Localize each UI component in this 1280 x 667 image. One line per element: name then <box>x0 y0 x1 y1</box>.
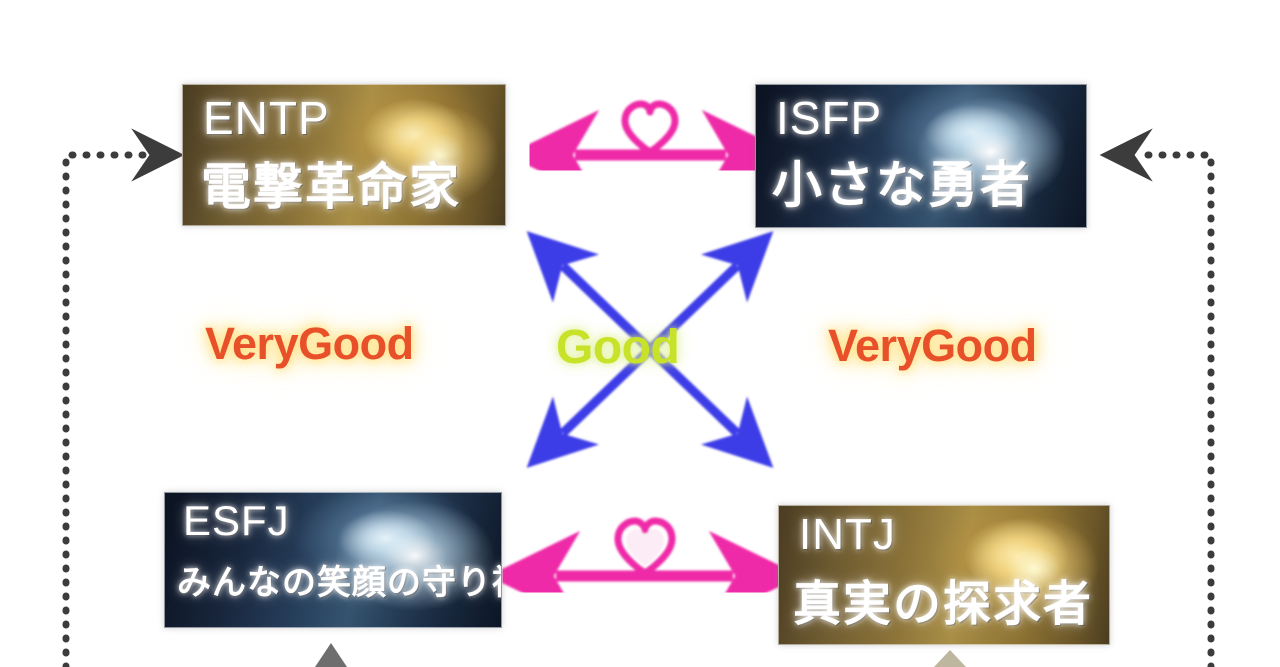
card-subtitle: みんなの笑顔の守り神 <box>165 555 501 604</box>
relation-label-isfp-intj: VeryGood <box>828 320 1037 372</box>
card-intj[interactable]: INTJ 真実の探求者 <box>778 505 1110 645</box>
outer-connector-right <box>1136 155 1211 667</box>
relation-arrow-esfj-intj <box>556 521 733 576</box>
relation-arrow-entp-isfp <box>575 104 726 155</box>
card-code: INTJ <box>779 510 1109 560</box>
card-code: ESFJ <box>165 497 501 545</box>
outer-connector-bottom-right <box>934 650 966 667</box>
relation-label-cross: Good <box>556 320 679 375</box>
card-code: ISFP <box>756 91 1086 145</box>
card-code: ENTP <box>183 91 505 145</box>
card-isfp[interactable]: ISFP 小さな勇者 <box>755 84 1087 228</box>
outer-connector-bottom-left <box>315 643 347 667</box>
card-esfj[interactable]: ESFJ みんなの笑顔の守り神 <box>164 492 502 628</box>
relation-label-entp-esfj: VeryGood <box>205 318 414 370</box>
heart-icon-bottom <box>618 521 672 573</box>
card-subtitle: 電撃革命家 <box>183 147 505 219</box>
card-entp[interactable]: ENTP 電撃革命家 <box>182 84 506 226</box>
outer-connector-left <box>66 155 148 667</box>
card-subtitle: 小さな勇者 <box>756 145 1086 217</box>
heart-icon <box>625 104 675 152</box>
mbti-compatibility-diagram: ENTP 電撃革命家 ISFP 小さな勇者 ESFJ みんなの笑顔の守り神 IN… <box>0 0 1280 667</box>
card-subtitle: 真実の探求者 <box>779 564 1109 634</box>
